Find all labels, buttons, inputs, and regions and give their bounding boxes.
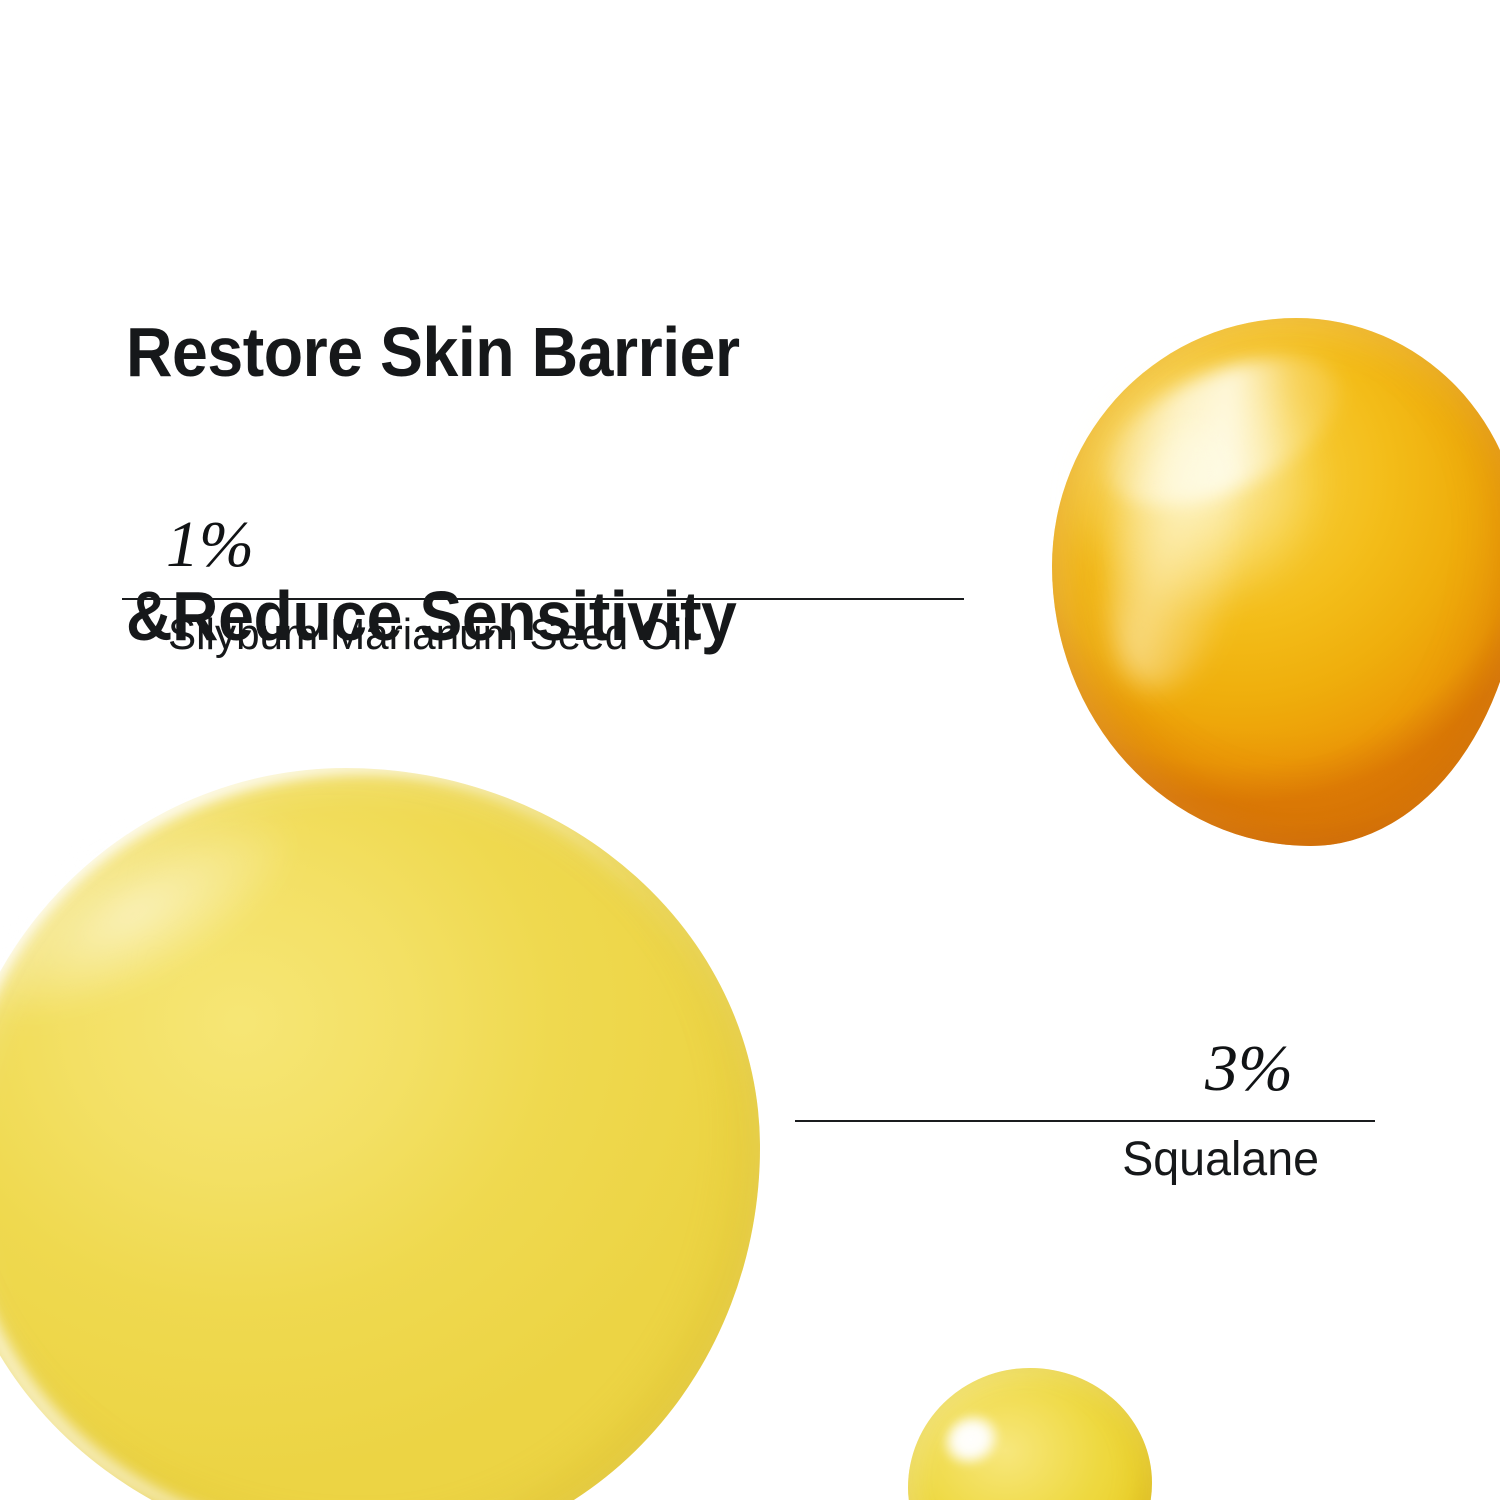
ingredient-name: Silybum Marianum Seed Oil <box>168 610 932 660</box>
callout-divider-rule <box>122 598 964 600</box>
headline-line-1: Restore Skin Barrier <box>126 308 954 396</box>
product-benefit-graphic: Restore Skin Barrier &Reduce Sensitivity… <box>0 0 1500 1500</box>
small-yellow-oil-droplet <box>908 1368 1152 1500</box>
ingredient-percent: 1% <box>166 512 964 590</box>
ingredient-name: Squalane <box>811 1132 1319 1187</box>
callout-divider-rule <box>795 1120 1375 1122</box>
ingredient-callout-squalane: 3% Squalane <box>795 1036 1375 1187</box>
page-title: Restore Skin Barrier &Reduce Sensitivity <box>126 132 954 836</box>
large-yellow-oil-blob <box>0 768 760 1500</box>
ingredient-percent: 3% <box>795 1036 1293 1114</box>
amber-oil-droplet <box>1052 318 1500 846</box>
ingredient-callout-silybum: 1% Silybum Marianum Seed Oil <box>122 512 964 660</box>
